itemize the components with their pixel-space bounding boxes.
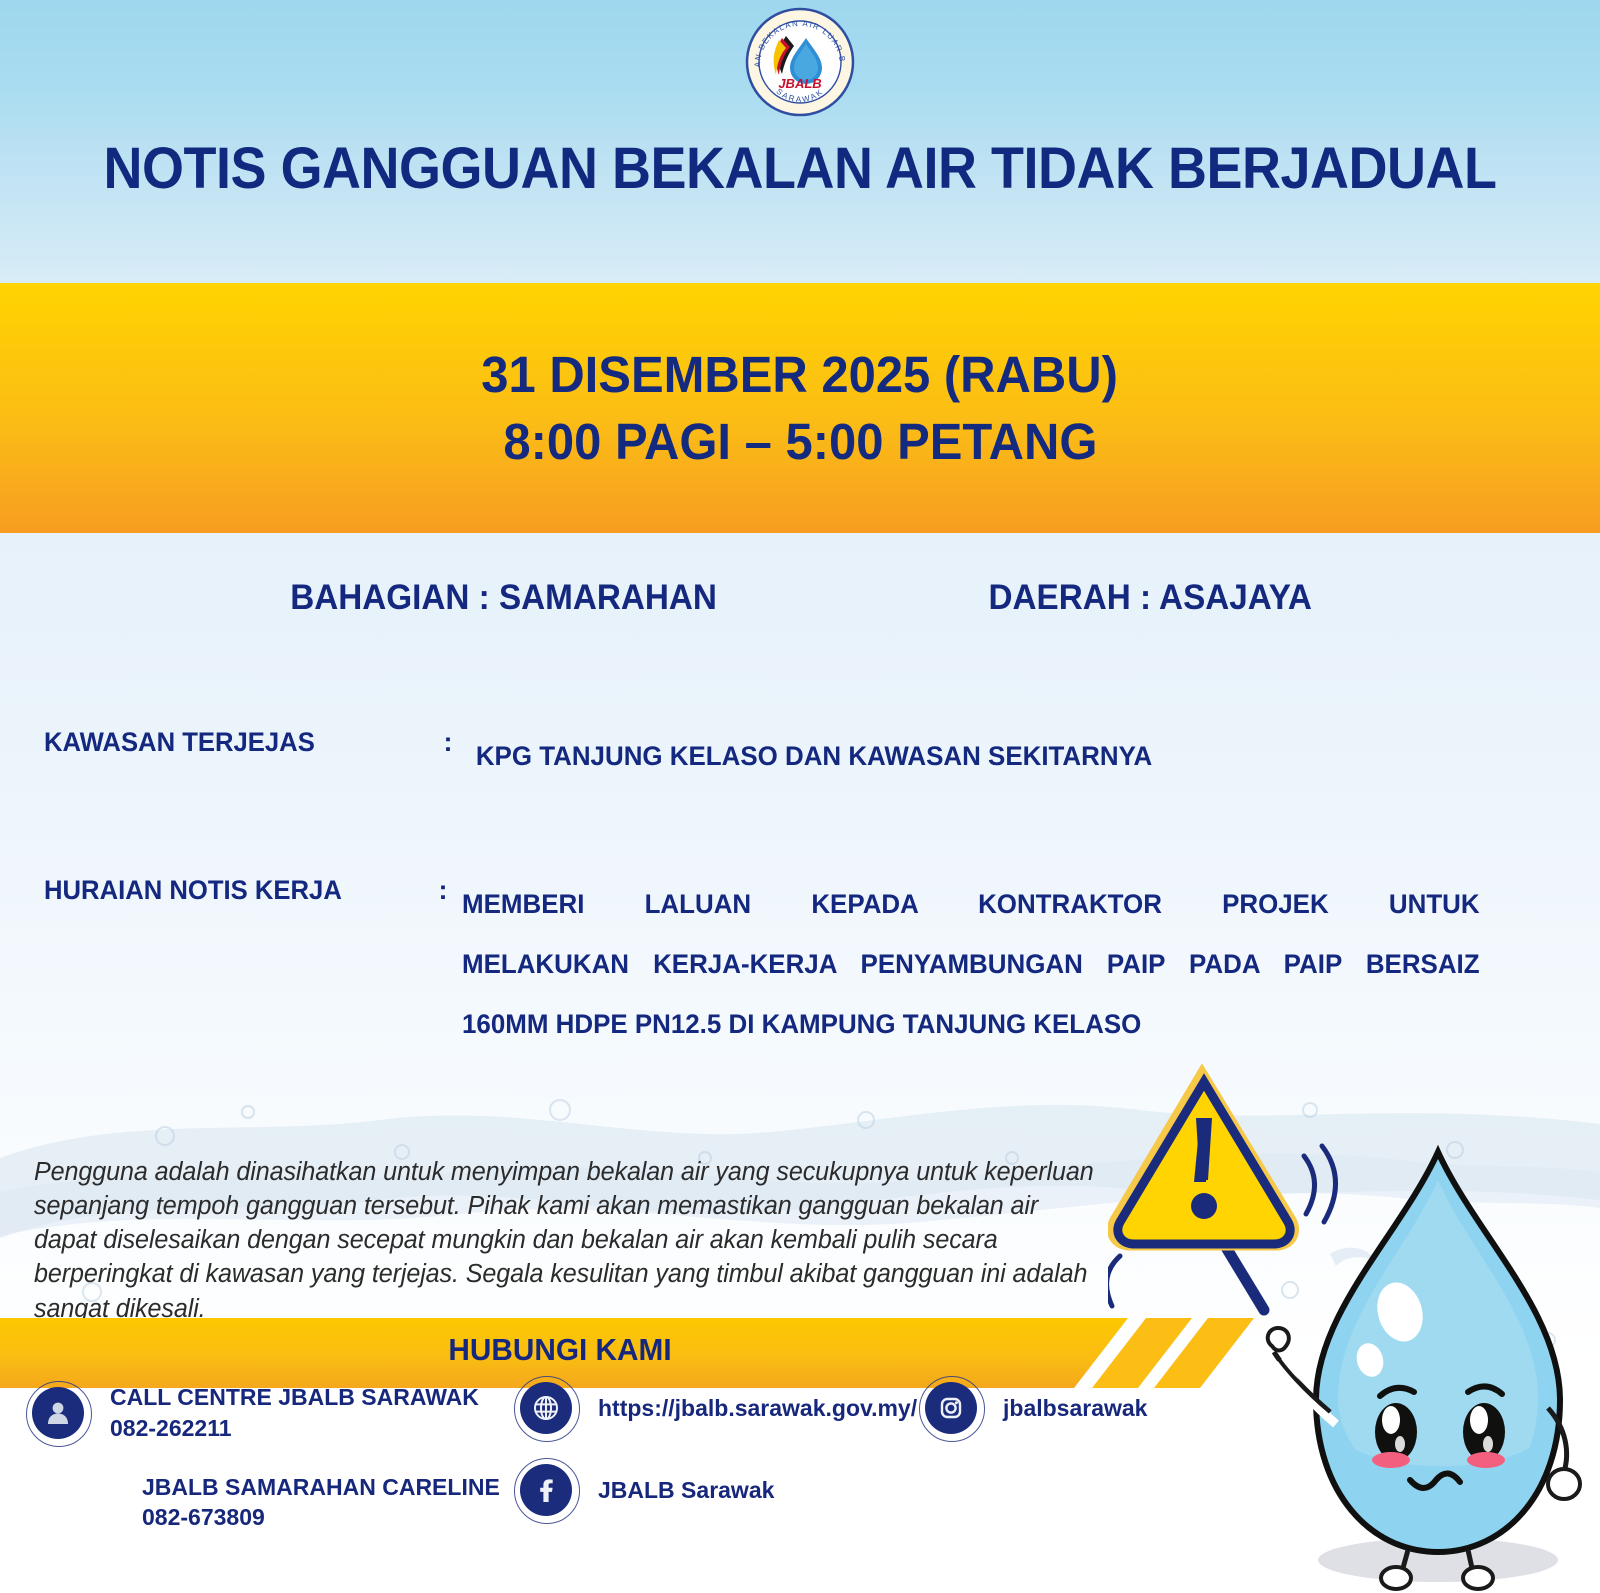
facebook-icon [520, 1464, 572, 1516]
affected-area-colon: : [424, 727, 472, 758]
affected-area-label: KAWASAN TERJEJAS [44, 727, 405, 758]
work-description-label: HURAIAN NOTIS KERJA [44, 875, 405, 906]
schedule-band: 31 DISEMBER 2025 (RABU) 8:00 PAGI – 5:00… [0, 283, 1600, 533]
careline-phone: 082-673809 [142, 1504, 265, 1530]
instagram-item[interactable]: jbalbsarawak [925, 1382, 1147, 1434]
instagram-icon [925, 1382, 977, 1434]
contact-column-phone: CALL CENTRE JBALB SARAWAK 082-262211 JBA… [32, 1382, 500, 1561]
contact-column-social: jbalbsarawak [925, 1382, 1147, 1448]
jbalb-logo-icon: JABATAN BEKALAN AIR LUAR BANDAR SARAWAK … [744, 6, 856, 118]
water-disruption-notice-poster: JABATAN BEKALAN AIR LUAR BANDAR SARAWAK … [0, 0, 1600, 1593]
affected-area-value: KPG TANJUNG KELASO DAN KAWASAN SEKITARNY… [472, 727, 1152, 787]
region-row: BAHAGIAN : SAMARAHAN DAERAH : ASAJAYA [0, 578, 1600, 618]
careline-name: JBALB SAMARAHAN CARELINE [142, 1474, 500, 1500]
svg-text:JBALB: JBALB [778, 76, 821, 91]
website-item[interactable]: https://jbalb.sarawak.gov.my/ [520, 1382, 917, 1434]
globe-icon [520, 1382, 572, 1434]
call-centre-name: CALL CENTRE JBALB SARAWAK [110, 1384, 479, 1410]
header-band: JABATAN BEKALAN AIR LUAR BANDAR SARAWAK … [0, 0, 1600, 283]
district-label: DAERAH : ASAJAYA [989, 578, 1312, 618]
affected-area-field: KAWASAN TERJEJAS : KPG TANJUNG KELASO DA… [44, 727, 1181, 787]
contact-column-web: https://jbalb.sarawak.gov.my/ JBALB Sara… [520, 1382, 917, 1546]
facebook-item[interactable]: JBALB Sarawak [520, 1464, 917, 1516]
call-centre-item[interactable]: CALL CENTRE JBALB SARAWAK 082-262211 [32, 1382, 500, 1444]
schedule-time: 8:00 PAGI – 5:00 PETANG [503, 408, 1097, 475]
website-text[interactable]: https://jbalb.sarawak.gov.my/ [598, 1393, 917, 1424]
contact-banner-label: HUBUNGI KAMI [22, 1332, 1097, 1368]
advisory-paragraph: Pengguna adalah dinasihatkan untuk menyi… [34, 1155, 1103, 1326]
careline-text: JBALB SAMARAHAN CARELINE 082-673809 [142, 1472, 500, 1534]
facebook-text[interactable]: JBALB Sarawak [598, 1475, 774, 1506]
work-description-line-3: 160MM HDPE PN12.5 DI KAMPUNG TANJUNG KEL… [462, 995, 1480, 1055]
work-description-line-2: MELAKUKAN KERJA-KERJA PENYAMBUNGAN PAIP … [462, 935, 1480, 995]
schedule-date: 31 DISEMBER 2025 (RABU) [482, 341, 1119, 408]
instagram-text[interactable]: jbalbsarawak [1003, 1393, 1147, 1424]
warning-triangle-icon [1111, 1072, 1294, 1246]
person-icon [32, 1387, 84, 1439]
careline-item[interactable]: JBALB SAMARAHAN CARELINE 082-673809 [32, 1472, 500, 1534]
page-title: NOTIS GANGGUAN BEKALAN AIR TIDAK BERJADU… [56, 135, 1544, 202]
work-description-field: HURAIAN NOTIS KERJA : MEMBERI LALUAN KEP… [44, 875, 1522, 1055]
call-centre-phone: 082-262211 [110, 1415, 232, 1441]
work-description-value: MEMBERI LALUAN KEPADA KONTRAKTOR PROJEK … [462, 875, 1480, 1055]
division-label: BAHAGIAN : SAMARAHAN [290, 578, 717, 618]
work-description-line-1: MEMBERI LALUAN KEPADA KONTRAKTOR PROJEK … [462, 875, 1480, 935]
call-centre-text: CALL CENTRE JBALB SARAWAK 082-262211 [110, 1382, 479, 1444]
work-description-colon: : [424, 875, 462, 906]
